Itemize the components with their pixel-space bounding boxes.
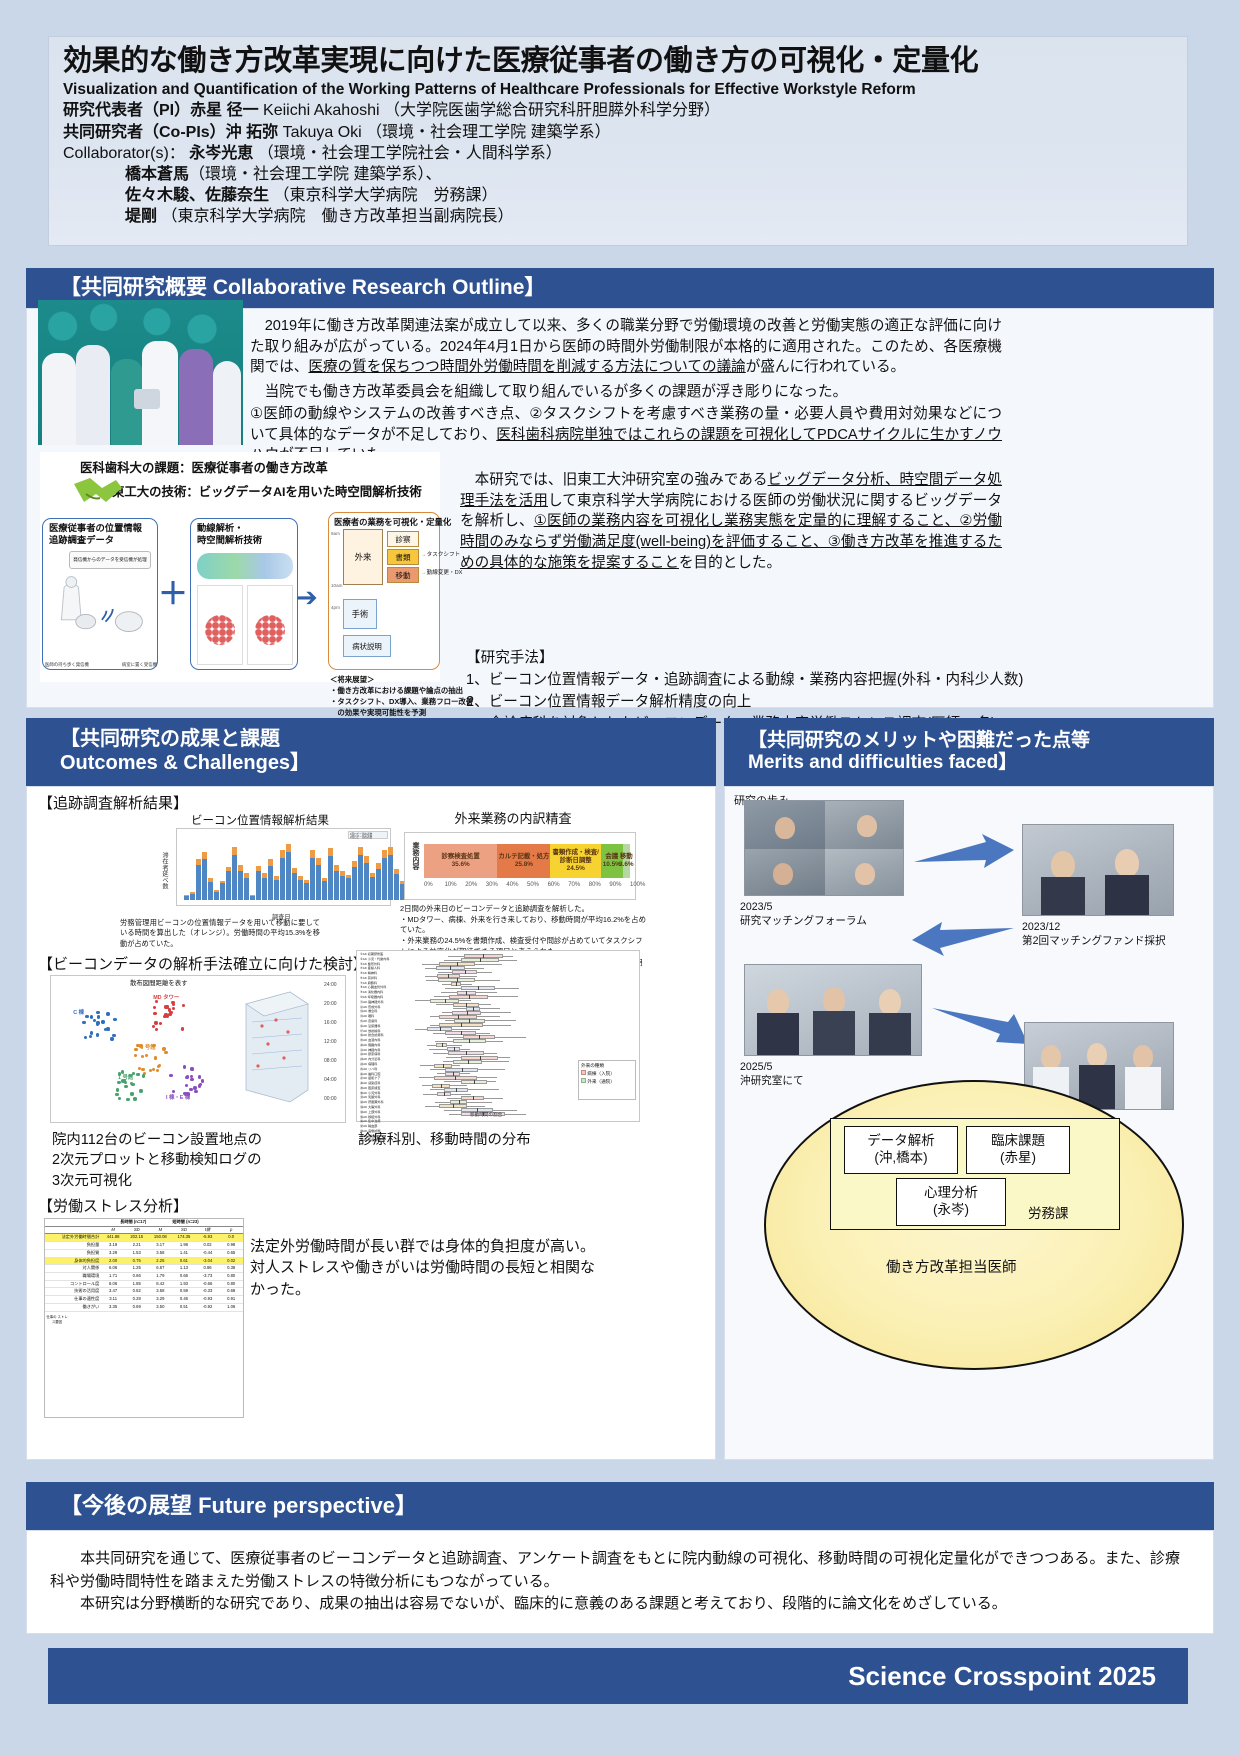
table-row: 仕事の適性度3.110.283.290.46-0.930.91 (45, 1296, 243, 1304)
team-box-clinical: 臨床課題 (赤星) (966, 1126, 1070, 1174)
scatter-caption: 院内112台のビーコン設置地点の 2次元プロットと移動検知ログの 3次元可視化 (52, 1130, 292, 1191)
stress-cell: -0.92 (196, 1304, 220, 1311)
chart1-bar (340, 871, 345, 900)
chart1-bar-segment-upper (232, 847, 237, 855)
stress-cell: 8.06 (101, 1281, 125, 1288)
chart2-ylabel: 業務内容 (410, 842, 420, 870)
outline-paragraph-4: 本研究では、旧東工大沖研究室の強みであるビッグデータ分析、時空間データ処理手法を… (460, 470, 1002, 574)
stress-row-label: 身体的負担度 (45, 1258, 101, 1265)
team-box-2-line2: (赤星) (991, 1150, 1045, 1167)
chart1-bar (328, 848, 333, 900)
concept-sub-movement: 移動 (387, 567, 419, 583)
time-axis-tick: 00:00 (324, 1096, 337, 1102)
stress-cell: 174.35 (172, 1234, 196, 1241)
collaborator-1-affiliation: （環境・社会理工学院社会・人間科学系） (258, 145, 562, 162)
stress-row-label: 対人関係 (45, 1265, 101, 1272)
chart1-bar-segment-lower (316, 865, 321, 900)
time-axis-tick: 16:00 (324, 1020, 337, 1026)
stress-cell: 3.17 (149, 1242, 173, 1249)
photo-2-date: 2023/12 (1022, 920, 1166, 934)
chart1-bar-segment-lower (370, 877, 375, 900)
section-banner-outcomes-label: 【共同研究の成果と課題 Outcomes & Challenges】 (26, 728, 310, 775)
concept-sub-documents: 書類 (387, 549, 419, 565)
arrow-1-icon (912, 834, 1016, 880)
stress-cell: 3.47 (101, 1288, 125, 1295)
table-row: 職場環境1.710.661.790.66-3.730.80 (45, 1273, 243, 1281)
chart2-segment: 書類作成・検査/診断日調整24.5% (550, 844, 600, 878)
stress-table-body: 法定外労働時間合計441.88202.15150.08174.35-5.930.… (45, 1234, 243, 1311)
chart1-bar-segment-upper (310, 850, 315, 857)
chart1-bar (208, 878, 213, 900)
person-face-e (879, 989, 901, 1015)
outline-p1-underlined: 医療の質を保ちつつ時間外労働時間を削減する方法についての議論 (308, 359, 745, 375)
person-face-f (1041, 1045, 1061, 1069)
chart1-bar-segment-lower (358, 855, 363, 900)
stress-caption: 法定外労働時間が長い群では身体的負担度が高い。 対人ストレスや働きがいは労働時間… (250, 1236, 650, 1300)
chart1-bar-segment-lower (382, 858, 387, 900)
stress-cell: 3.50 (149, 1304, 173, 1311)
stress-cell: 3.58 (149, 1250, 173, 1257)
concept-out-taskshift: →タスクシフト (421, 550, 460, 558)
boxplot-rows (414, 954, 574, 1118)
outcomes-banner-line2: Outcomes & Challenges】 (60, 752, 310, 776)
chart1-bar (250, 895, 255, 900)
copi-name-en: Takuya Oki (283, 124, 362, 141)
merits-banner-line2: Merits and difficulties faced】 (748, 752, 1090, 774)
collaborator-line-4: 堤剛 （東京科学大学病院 働き方改革担当副病院長） (63, 206, 1173, 227)
chart2-xtick: 10% (445, 882, 457, 888)
stress-row-label: 職場環境 (45, 1273, 101, 1280)
time-axis-tick: 12:00 (324, 1039, 337, 1045)
chart2-xtick: 30% (486, 882, 498, 888)
future-paragraph-1: 本共同研究を通じて、医療従事者のビーコンデータと追跡調査、アンケート調査をもとに… (50, 1548, 1180, 1593)
future-paragraph-2: 本研究は分野横断的な研究であり、成果の抽出は容易でないが、臨床的に意義のある課題… (50, 1593, 1180, 1616)
chart1-bar-segment-lower (232, 855, 237, 900)
chart1-bar-segment-lower (346, 878, 351, 900)
chart1-bar-segment-lower (256, 871, 261, 900)
arrow-right-icon: ➔ (296, 584, 318, 610)
stress-cell: 8.42 (149, 1281, 173, 1288)
concept-box2-label: 動線解析・ 時空間解析技術 (197, 523, 262, 546)
chart1-bar (286, 844, 291, 900)
person-suit-b (1105, 875, 1149, 916)
stress-cell: 3.35 (101, 1304, 125, 1311)
chart1-ylabel: 滞在者延べ数 (160, 852, 169, 889)
boxplot-legend: 外来の種類 病棟（入院） 外来（通院） (578, 1060, 636, 1100)
person-face-h (1133, 1045, 1153, 1069)
stress-row-label: 負担量 (45, 1242, 101, 1249)
chart1-bar (316, 858, 321, 900)
chart1-bar-segment-lower (352, 867, 357, 900)
chart1-bar-segment-lower (274, 880, 279, 900)
collaborator-3-affiliation: （東京科学大学病院 労務課） (273, 187, 497, 204)
chart1-bar (202, 852, 207, 900)
stress-cell: -5.93 (196, 1234, 220, 1241)
concept-box3-y2: 10am (331, 583, 343, 588)
stress-cell: -0.66 (196, 1281, 220, 1288)
video-face-2 (857, 815, 877, 837)
doctor-figure-1 (42, 353, 76, 445)
person-suit-a (1041, 877, 1085, 916)
pi-affiliation: （大学院医歯学総合研究科肝胆膵外科学分野） (384, 102, 720, 119)
stress-cell: 1.85 (125, 1281, 149, 1288)
chart1-bar (280, 850, 285, 900)
collaborator-3-name: 佐々木駿、佐藤奈生 (125, 187, 269, 204)
stress-table-col-header: t値 (196, 1227, 220, 1234)
stress-cell: 1.79 (149, 1273, 173, 1280)
copi-label: 共同研究者（Co-PIs）沖 拓弥 (63, 124, 278, 141)
method-item-1: 1、ビーコン位置情報データ・追跡調査による動線・業務内容把握(外科・内科少人数) (466, 670, 1026, 692)
concept-box1-note: 発信機からのデータを受信機が処理 (69, 551, 151, 569)
poster-page: 効果的な働き方改革実現に向けた医療従事者の働き方の可視化・定量化 Visuali… (0, 0, 1240, 1755)
chart2-xtick: 70% (568, 882, 580, 888)
team-box-data-analysis: データ解析 (沖,橋本) (844, 1126, 958, 1174)
concept-box-analysis-tech: 動線解析・ 時空間解析技術 (190, 518, 298, 670)
stress-cell: 0.91 (219, 1296, 243, 1303)
chart1-bar-segment-lower (388, 855, 393, 900)
stress-cell: 1.71 (101, 1273, 125, 1280)
boxplot-xlabel: 移動時間の割合 (470, 1112, 502, 1118)
chart2-xtick: 60% (548, 882, 560, 888)
chart1-bar-segment-lower (208, 882, 213, 900)
stress-cell: -0.44 (196, 1250, 220, 1257)
merits-banner-line1: 【共同研究のメリットや困難だった点等 (748, 730, 1090, 752)
concept-line-2: 東工大の技術：ビッグデータAIを用いた時空間解析技術 (112, 482, 422, 500)
future-text-block: 本共同研究を通じて、医療従事者のビーコンデータと追跡調査、アンケート調査をもとに… (50, 1548, 1180, 1616)
stress-cell: 0.75 (125, 1258, 149, 1265)
stress-cell: 1.25 (125, 1265, 149, 1272)
section-banner-merits-label: 【共同研究のメリットや困難だった点等 Merits and difficulti… (724, 730, 1090, 775)
video-face-3 (773, 863, 793, 885)
stress-row-label: 働きがい (45, 1304, 101, 1311)
concept-sub-consult: 診察 (387, 531, 419, 547)
chart1-bar-segment-lower (190, 894, 195, 900)
collaborator-4-name: 堤剛 (125, 208, 157, 225)
photo-oki-lab (744, 964, 922, 1056)
concept-out-dx: →勤線変更・DX (421, 568, 462, 576)
future-outlook-note: ＜将来展望＞ ・働き方改革における課題や論点の抽出 ・タスクシフト、DX導入、業… (330, 674, 480, 718)
time-axis-tick: 04:00 (324, 1077, 337, 1083)
method-item-2: 2、ビーコン位置情報データ解析精度の向上 (466, 692, 1026, 714)
concept-box-visualization: 医療者の業務を可視化・定量化 9am 10am 4pm 外来 手術 病状説明 診… (328, 512, 440, 670)
chart1-bar (226, 867, 231, 900)
future-note-2: ・タスクシフト、DX導入、業務フロー改善 (330, 696, 480, 707)
chart2-xtick: 40% (506, 882, 518, 888)
stress-table-col-header: M (149, 1227, 173, 1234)
beacon-diagram-icon (46, 573, 156, 645)
outline-p1-part2: が盛んに行われている。 (746, 359, 905, 375)
stress-cell: 1.06 (219, 1304, 243, 1311)
chart1-bar-segment-upper (286, 844, 291, 853)
pi-line: 研究代表者（PI）赤星 径一 Keiichi Akahoshi （大学院医歯学総… (63, 100, 1173, 121)
three-d-visualization (228, 982, 324, 1114)
footer-text: Science Crosspoint 2025 (848, 1661, 1156, 1692)
person-suit-d (813, 1011, 855, 1056)
person-face-a (1051, 851, 1075, 879)
concept-line-1: 医科歯科大の課題：医療従事者の働き方改革 (80, 458, 328, 476)
chart1-bar-segment-lower (292, 873, 297, 900)
chart1-bar-segment-upper (316, 858, 321, 865)
stress-cell: 0.66 (125, 1273, 149, 1280)
chart1-bar (394, 869, 399, 900)
scatter-cluster-label: I 棟・E 棟 (166, 1093, 190, 1101)
photo-1-caption: 2023/5 研究マッチングフォーラム (740, 900, 867, 929)
person-face-d (823, 987, 845, 1013)
chart1-bar-segment-upper (202, 852, 207, 859)
outcomes-heading-3: 【労働ストレス分析】 (38, 1195, 188, 1216)
arrow-3-icon (930, 1000, 1030, 1058)
collaborator-line-2: 橋本蒼馬（環境・社会理工学院 建築学系）、 (63, 164, 1173, 185)
stress-cell: 0.0 (219, 1234, 243, 1241)
chart2-xtick: 100% (630, 882, 645, 888)
stress-cell: 1.93 (172, 1281, 196, 1288)
chart1-bar (310, 850, 315, 900)
stress-cell: 2.00 (101, 1258, 125, 1265)
chart1-bar-segment-lower (286, 852, 291, 900)
team-box-2-line1: 臨床課題 (991, 1133, 1045, 1150)
chart1-bar (232, 847, 237, 900)
concept-diagram: 医科歯科大の課題：医療従事者の働き方改革 東工大の技術：ビッグデータAIを用いた… (40, 452, 440, 682)
video-face-4 (855, 863, 875, 885)
photo-2-caption: 2023/12 第2回マッチングファンド採択 (1022, 920, 1166, 949)
chart1-bar (346, 875, 351, 900)
stress-cell: 1.53 (125, 1250, 149, 1257)
collaborator-line-1: Collaborator(s)： 永岑光恵 （環境・社会理工学院社会・人間科学系… (63, 143, 1173, 164)
person-suit-e (869, 1013, 911, 1056)
stress-table-rowgroup-label: 仕事の ストレス要因 (46, 1315, 68, 1325)
stress-cell: -3.73 (196, 1273, 220, 1280)
person-suit-c (757, 1013, 799, 1056)
page-title: 効果的な働き方改革実現に向けた医療従事者の働き方の可視化・定量化 (63, 45, 1173, 78)
collaborator-2-name: 橋本蒼馬 (125, 166, 189, 183)
stress-cell: 0.80 (219, 1281, 243, 1288)
section-banner-merits: 【共同研究のメリットや困難だった点等 Merits and difficulti… (724, 718, 1214, 786)
stress-table-col-header: SD (125, 1227, 149, 1234)
chart1-bar-segment-upper (328, 848, 333, 856)
future-note-title: ＜将来展望＞ (330, 674, 480, 685)
concept-category-explanation: 病状説明 (343, 635, 391, 657)
stress-cell: 0.66 (172, 1273, 196, 1280)
concept-box3-title: 医療者の業務を可視化・定量化 (334, 516, 451, 528)
section-banner-future: 【今後の展望 Future perspective】 (26, 1482, 1214, 1530)
chart1-bar-segment-lower (268, 866, 273, 900)
concept-box1-label: 医療従事者の位置情報 追跡調査データ (49, 523, 142, 546)
table-row: 負担質3.291.533.581.41-0.440.65 (45, 1250, 243, 1258)
chart1-bar-segment-lower (214, 892, 219, 900)
stress-cell: 0.68 (219, 1288, 243, 1295)
scatter-cluster-label: C 棟 (73, 1008, 84, 1016)
chart1-bar (352, 861, 357, 900)
scatter-thumb-2-points (255, 615, 285, 645)
chart1-bar (220, 881, 225, 900)
team-box-psychology: 心理分析 (永岑) (896, 1178, 1006, 1226)
stress-cell: 3.29 (101, 1250, 125, 1257)
concept-category-surgery: 手術 (343, 599, 377, 629)
chart1-bar (322, 878, 327, 900)
chart1-bar-segment-upper (280, 850, 285, 857)
team-box-3-line2: (永岑) (924, 1202, 978, 1219)
stress-cell: 0.51 (172, 1304, 196, 1311)
healthcare-workers-illustration (38, 300, 243, 445)
stress-cell: 0.86 (196, 1265, 220, 1272)
stress-row-label: 技術の活用度 (45, 1288, 101, 1295)
chart2-title: 外来業務の内訳精査 (398, 808, 628, 827)
scatter-cluster-label: 3 号館 (140, 1043, 155, 1051)
stress-cell: -0.33 (196, 1288, 220, 1295)
plus-symbol: ＋ (158, 580, 188, 610)
table-row: 働きがい3.350.693.500.51-0.921.06 (45, 1304, 243, 1312)
chart1-bar-segment-upper (268, 859, 273, 866)
chart1-bar (184, 895, 189, 900)
stress-cell: -0.93 (196, 1296, 220, 1303)
time-axis-tick: 08:00 (324, 1058, 337, 1064)
stress-analysis-table: 長時間 (n=17) 短時間 (n=23) MSDMSDt値p 法定外労働時間合… (44, 1218, 244, 1418)
chart1-bar (274, 876, 279, 900)
stress-cell: 441.88 (101, 1234, 125, 1241)
stress-row-label: 負担質 (45, 1250, 101, 1257)
outline-p4-part3: を目的とした。 (679, 555, 781, 571)
stress-cell: 202.15 (125, 1234, 149, 1241)
chart1-bar-segment-lower (262, 878, 267, 900)
stress-cell: 0.28 (125, 1296, 149, 1303)
chart1-bar-segment-lower (196, 865, 201, 900)
chart2-segment: 診察検査処置35.6% (424, 844, 497, 878)
doctor-figure-6 (213, 361, 241, 445)
photo-3-caption: 2025/5 沖研究室にて (740, 1060, 804, 1089)
time-axis-tick: 24:00 (324, 982, 337, 988)
stress-row-label: 仕事の適性度 (45, 1296, 101, 1303)
chart1-caption: 労務管理用ビーコンの位置情報データを用いて移動に要している時間を算出した（オレン… (120, 918, 320, 949)
collaborator-4-affiliation: （東京科学大学病院 働き方改革担当副病院長） (161, 208, 513, 225)
chart2-xtick: 50% (527, 882, 539, 888)
collaborator-label: Collaborator(s)： (63, 145, 185, 162)
person-face-c (767, 989, 789, 1015)
outline-p4-part1: 本研究では、旧東工大沖研究室の強みである (460, 472, 768, 488)
stress-cell: 150.08 (149, 1234, 173, 1241)
stress-cell: 0.65 (219, 1250, 243, 1257)
chart1-bar-segment-lower (334, 871, 339, 900)
stress-cell: 0.46 (172, 1296, 196, 1303)
photo-matching-fund (1022, 824, 1174, 916)
stress-cell: 0.02 (219, 1258, 243, 1265)
chart1-bar-segment-lower (394, 874, 399, 900)
section-banner-outline-label: 【共同研究概要 Collaborative Research Outline】 (26, 276, 545, 301)
scatter-thumb-1-points (205, 615, 235, 645)
chart1-bar-segment-upper (364, 856, 369, 863)
stress-cell: 6.67 (149, 1265, 173, 1272)
chart1-bar (388, 847, 393, 900)
section-banner-future-label: 【今後の展望 Future perspective】 (26, 1493, 417, 1519)
footer-banner: Science Crosspoint 2025 (48, 1648, 1188, 1704)
section-banner-outcomes: 【共同研究の成果と課題 Outcomes & Challenges】 (26, 718, 716, 786)
photo-matching-forum (744, 800, 904, 896)
person-face-b (1115, 849, 1139, 877)
chart1-bar (358, 847, 363, 900)
collaborator-line-3: 佐々木駿、佐藤奈生 （東京科学大学病院 労務課） (63, 185, 1173, 206)
heatmap-strip (197, 553, 293, 579)
table-row: 法定外労働時間合計441.88202.15150.08174.35-5.930.… (45, 1234, 243, 1242)
chart2-xtick: 0% (424, 882, 433, 888)
outline-paragraph-2: 当院でも働き方改革委員会を組織して取り組んでいるが多くの課題が浮き彫りになった。 (250, 382, 1002, 403)
stress-table-col-header: SD (172, 1227, 196, 1234)
concept-box-location-data: 医療従事者の位置情報 追跡調査データ 発信機からのデータを受信機が処理 医師の持… (42, 518, 158, 670)
chart2-segment: 移動3.6% (623, 844, 630, 878)
doctor-figure-5 (179, 349, 213, 445)
chart1-bar-segment-lower (298, 880, 303, 900)
chart1-bar (370, 873, 375, 900)
stress-cell: 0.80 (219, 1273, 243, 1280)
table-row: 負担量3.192.213.171.980.020.98 (45, 1242, 243, 1250)
chart1-bar (364, 856, 369, 900)
chart1-bar (238, 865, 243, 900)
doctor-figure-2 (76, 345, 110, 445)
stress-cell: 3.58 (149, 1288, 173, 1295)
stress-cell: 1.13 (172, 1265, 196, 1272)
pi-label: 研究代表者（PI）赤星 径一 (63, 102, 259, 119)
stress-table-col-header: M (101, 1227, 125, 1234)
pi-name-en: Keiichi Akahoshi (263, 102, 380, 119)
stress-cell: 0.38 (219, 1265, 243, 1272)
copi-line: 共同研究者（Co-PIs）沖 拓弥 Takuya Oki （環境・社会理工学院 … (63, 122, 1173, 143)
handshake-icon (72, 476, 124, 514)
stress-cell: 0.82 (125, 1288, 149, 1295)
chart1-bar (382, 850, 387, 900)
outline-p2-text: 当院でも働き方改革委員会を組織して取り組んでいるが多くの課題が浮き彫りになった。 (250, 384, 847, 400)
team-box-1-line2: (沖,橋本) (867, 1150, 935, 1167)
team-label-romuka: 労務課 (1028, 1202, 1069, 1222)
stress-cell: 2.21 (125, 1242, 149, 1249)
future-note-3: の効果や実現可能性を予測 (330, 707, 480, 718)
chart1-bar-segment-lower (322, 881, 327, 900)
person-face-g (1087, 1043, 1107, 1067)
chart1-bar-segment-lower (328, 856, 333, 900)
team-box-1-line1: データ解析 (867, 1133, 935, 1150)
time-axis-tick: 20:00 (324, 1001, 337, 1007)
outcomes-heading-1: 【追跡調査解析結果】 (38, 792, 188, 813)
concept-category-outpatient: 外来 (343, 529, 383, 585)
chart1-bar-segment-lower (304, 883, 309, 900)
chart1-bar (262, 873, 267, 900)
scatter-time-axis-labels: 24:0020:0016:0012:0008:0004:0000:00 (324, 982, 346, 1114)
stress-cell: 0.69 (125, 1304, 149, 1311)
page-subtitle-en: Visualization and Quantification of the … (63, 80, 1173, 100)
chart1-title: ビーコン位置情報解析結果 (150, 812, 370, 828)
chart2-xtick: 90% (609, 882, 621, 888)
stress-cell: 3.11 (101, 1296, 125, 1303)
team-box-3-line1: 心理分析 (924, 1185, 978, 1202)
chart1-bar-segment-lower (226, 871, 231, 900)
chart1-bar (244, 873, 249, 900)
stress-cell: 1.41 (172, 1250, 196, 1257)
chart1-bar-segment-upper (382, 850, 387, 857)
boxplot-caption: 診療科別、移動時間の分布 (358, 1130, 638, 1150)
chart1-bar-segment-lower (184, 896, 189, 900)
scatter-cluster-label: MD タワー (153, 993, 179, 1001)
chart1-bar (214, 890, 219, 900)
chart1-bar-segment-lower (220, 883, 225, 900)
chart1-bar (268, 859, 273, 900)
arrow-2-icon (912, 916, 1016, 964)
chart1-bar (376, 863, 381, 900)
chart1-bar-segment-lower (250, 896, 255, 900)
chart2-stacked-bar: 診察検査処置35.6%カルテ記載・処方25.8%書類作成・検査/診断日調整24.… (424, 844, 630, 878)
stress-cell: 0.98 (219, 1242, 243, 1249)
collaborator-2-affiliation: （環境・社会理工学院 建築学系）、 (189, 166, 441, 183)
chart1-bar-segment-lower (340, 876, 345, 900)
photo-3-date: 2025/5 (740, 1060, 804, 1074)
chart1-bar-segment-lower (280, 858, 285, 900)
chart2-xtick: 80% (589, 882, 601, 888)
